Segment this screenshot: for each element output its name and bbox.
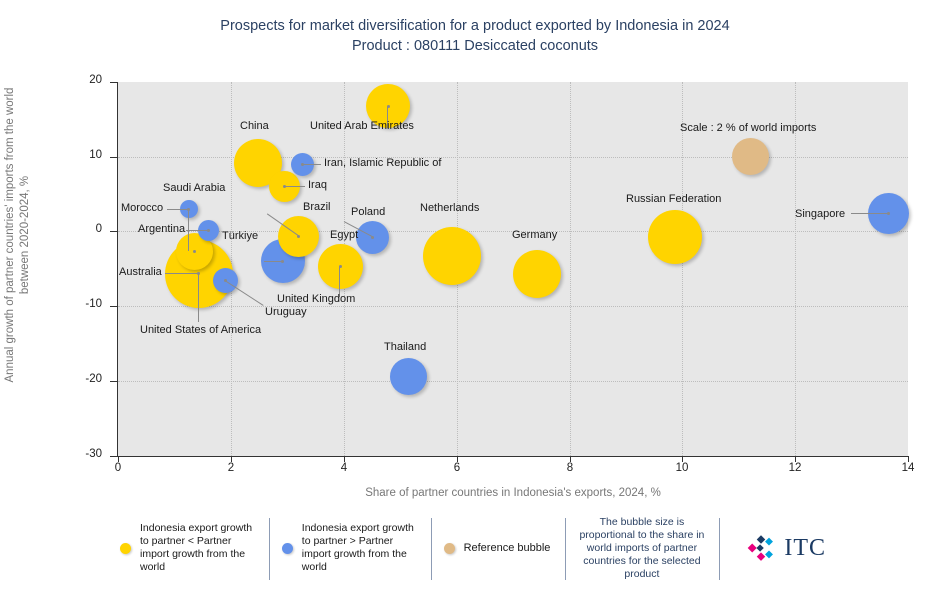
legend-size-note: The bubble size is proportional to the s… [577, 516, 706, 581]
beige-dot-icon [444, 543, 455, 554]
bubble-label-poland: Poland [351, 206, 385, 218]
x-tick-label-12: 12 [775, 462, 815, 474]
y-axis-title: Annual growth of partner countries' impo… [3, 65, 33, 405]
gridline-x-8 [570, 82, 571, 456]
y-tick-10 [110, 157, 117, 158]
chart-legend: Indonesia export growth to partner < Par… [108, 518, 838, 582]
leader-dot-morocco [193, 250, 196, 253]
bubble-label-china: China [240, 120, 269, 132]
bubble-label-russian-federation: Russian Federation [626, 193, 721, 205]
itc-diamonds-icon [745, 533, 779, 563]
bubble-label-united-arab-emirates: United Arab Emirates [310, 120, 414, 132]
x-axis-title: Share of partner countries in Indonesia'… [118, 487, 908, 499]
gridline-y--10 [118, 306, 908, 307]
x-tick-label-14: 14 [888, 462, 928, 474]
y-tick-20 [110, 82, 117, 83]
legend-item-yellow[interactable]: Indonesia export growth to partner < Par… [108, 518, 269, 578]
x-tick-label-2: 2 [211, 462, 251, 474]
y-tick--10 [110, 306, 117, 307]
leader-line-united-states-of-america [198, 274, 199, 322]
gridline-y--20 [118, 381, 908, 382]
y-tick-label-20: 20 [62, 74, 102, 86]
leader-line-iran [303, 164, 321, 165]
bubble-label-argentina: Argentina [138, 223, 185, 235]
bubble-label-saudi-arabia: Saudi Arabia [163, 182, 225, 194]
blue-dot-icon [282, 543, 293, 554]
itc-wordmark: ITC [784, 535, 826, 562]
x-axis-line [117, 456, 908, 457]
x-tick-label-8: 8 [550, 462, 590, 474]
y-tick-label-10: 10 [62, 149, 102, 161]
bubble-label-germany: Germany [512, 229, 557, 241]
gridline-x-10 [682, 82, 683, 456]
y-tick-label--10: -10 [62, 298, 102, 310]
bubble-label-morocco: Morocco [121, 202, 163, 214]
bubble-label-netherlands: Netherlands [420, 202, 479, 214]
chart-page: Prospects for market diversification for… [0, 0, 950, 600]
leader-line-turkiye [264, 261, 283, 262]
title-line-2: Product : 080111 Desiccated coconuts [0, 36, 950, 56]
leader-line-iraq [285, 186, 305, 187]
bubble-label-iraq: Iraq [308, 179, 327, 191]
bubble-label-singapore: Singapore [795, 208, 845, 220]
y-tick--20 [110, 381, 117, 382]
bubble-label-thailand: Thailand [384, 341, 426, 353]
leader-line-morocco [167, 209, 188, 210]
legend-item-blue[interactable]: Indonesia export growth to partner > Par… [270, 518, 431, 578]
legend-item-reference[interactable]: Reference bubble [432, 518, 565, 578]
bubble-label-uruguay: Uruguay [265, 306, 307, 318]
y-tick-label--30: -30 [62, 448, 102, 460]
y-tick--30 [110, 456, 117, 457]
bubble-germany[interactable] [513, 250, 561, 298]
leader-line-australia [165, 273, 198, 274]
legend-note-cell: The bubble size is proportional to the s… [565, 518, 718, 578]
y-tick-label--20: -20 [62, 373, 102, 385]
x-tick-label-6: 6 [437, 462, 477, 474]
leader-line-singapore [851, 213, 888, 214]
scale-annotation: Scale : 2 % of world imports [680, 122, 816, 134]
legend-label-blue: Indonesia export growth to partner > Par… [302, 522, 419, 574]
gridline-x-12 [795, 82, 796, 456]
bubble-reference-scale [732, 138, 769, 175]
page-title: Prospects for market diversification for… [0, 16, 950, 56]
bubble-thailand[interactable] [390, 358, 427, 395]
y-tick-0 [110, 231, 117, 232]
bubble-label-iran: Iran, Islamic Republic of [324, 157, 441, 169]
itc-logo: ITC [719, 518, 838, 578]
leader-line-argentina [186, 230, 208, 231]
y-axis-line [117, 82, 118, 456]
yellow-dot-icon [120, 543, 131, 554]
legend-label-reference: Reference bubble [464, 542, 551, 554]
title-line-1: Prospects for market diversification for… [0, 16, 950, 36]
bubble-label-australia: Australia [119, 266, 162, 278]
x-tick-label-0: 0 [98, 462, 138, 474]
bubble-label-brazil: Brazil [303, 201, 331, 213]
bubble-label-turkiye: Türkiye [222, 230, 258, 242]
bubble-label-egypt: Egypt [330, 229, 358, 241]
y-tick-label-0: 0 [62, 223, 102, 235]
x-tick-label-10: 10 [662, 462, 702, 474]
bubble-russian-federation[interactable] [648, 210, 702, 264]
bubble-label-united-states-of-america: United States of America [140, 324, 261, 336]
bubble-label-united-kingdom: United Kingdom [277, 293, 355, 305]
legend-label-yellow: Indonesia export growth to partner < Par… [140, 522, 257, 574]
bubble-netherlands[interactable] [423, 227, 481, 285]
x-tick-label-4: 4 [324, 462, 364, 474]
